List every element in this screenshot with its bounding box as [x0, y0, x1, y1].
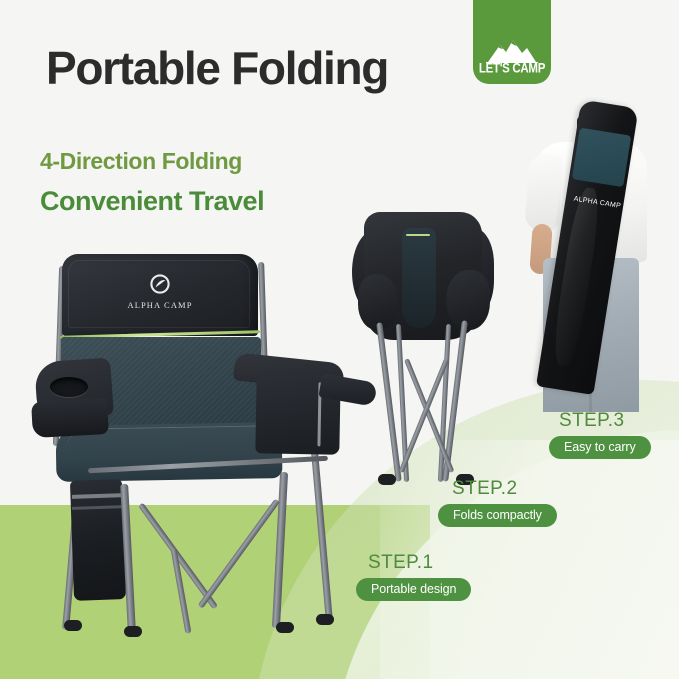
product-carry-demo: ALPHA CAMP	[525, 112, 675, 412]
step-caption-1: STEP.1 Portable design	[356, 552, 471, 601]
step-caption-3: STEP.3 Easy to carry	[549, 410, 651, 459]
folded-chair-foot-left	[378, 474, 396, 485]
step-3-badge: Easy to carry	[549, 436, 651, 459]
chair-brand-text: ALPHA CAMP	[106, 300, 214, 310]
mountain-icon	[486, 37, 538, 63]
chair-leg-rear-right	[310, 438, 333, 624]
step-3-title: STEP.3	[549, 410, 651, 432]
step-1-title: STEP.1	[356, 552, 471, 574]
product-chair-folded	[352, 212, 502, 492]
page-title: Portable Folding	[46, 44, 388, 92]
carry-bag-teal-panel	[572, 128, 631, 187]
infographic-canvas: LET'S CAMP Portable Folding 4-Direction …	[0, 0, 679, 679]
brand-logo-text: LET'S CAMP	[479, 62, 545, 76]
folded-chair-inner-fabric	[402, 228, 436, 328]
chair-brace-diagonal-b	[198, 498, 280, 608]
chair-foot-front-left	[124, 626, 142, 637]
chair-leg-front-right	[272, 472, 288, 628]
subtitle-secondary: Convenient Travel	[40, 186, 264, 217]
step-caption-2: STEP.2 Folds compactly	[438, 478, 557, 527]
chair-cup-holder	[50, 377, 88, 397]
step-2-badge: Folds compactly	[438, 504, 557, 527]
folded-chair-armrest-left	[358, 274, 398, 330]
chair-foot-front-right	[276, 622, 294, 633]
chair-armrest-left-pad	[31, 398, 109, 438]
alpha-camp-swoosh-icon	[150, 274, 170, 294]
chair-foot-rear-left	[64, 620, 82, 631]
chair-brand-mark: ALPHA CAMP	[106, 274, 214, 310]
step-1-badge: Portable design	[356, 578, 471, 601]
person-sleeve-left	[524, 153, 563, 231]
brand-logo-badge: LET'S CAMP	[473, 0, 551, 84]
folded-chair-piping	[406, 234, 430, 236]
folded-chair-armrest-right	[446, 270, 490, 330]
step-2-title: STEP.2	[438, 478, 557, 500]
product-chair-unfolded: ALPHA CAMP	[28, 248, 378, 648]
subtitle-primary: 4-Direction Folding	[40, 148, 242, 175]
chair-foot-rear-right	[316, 614, 334, 625]
